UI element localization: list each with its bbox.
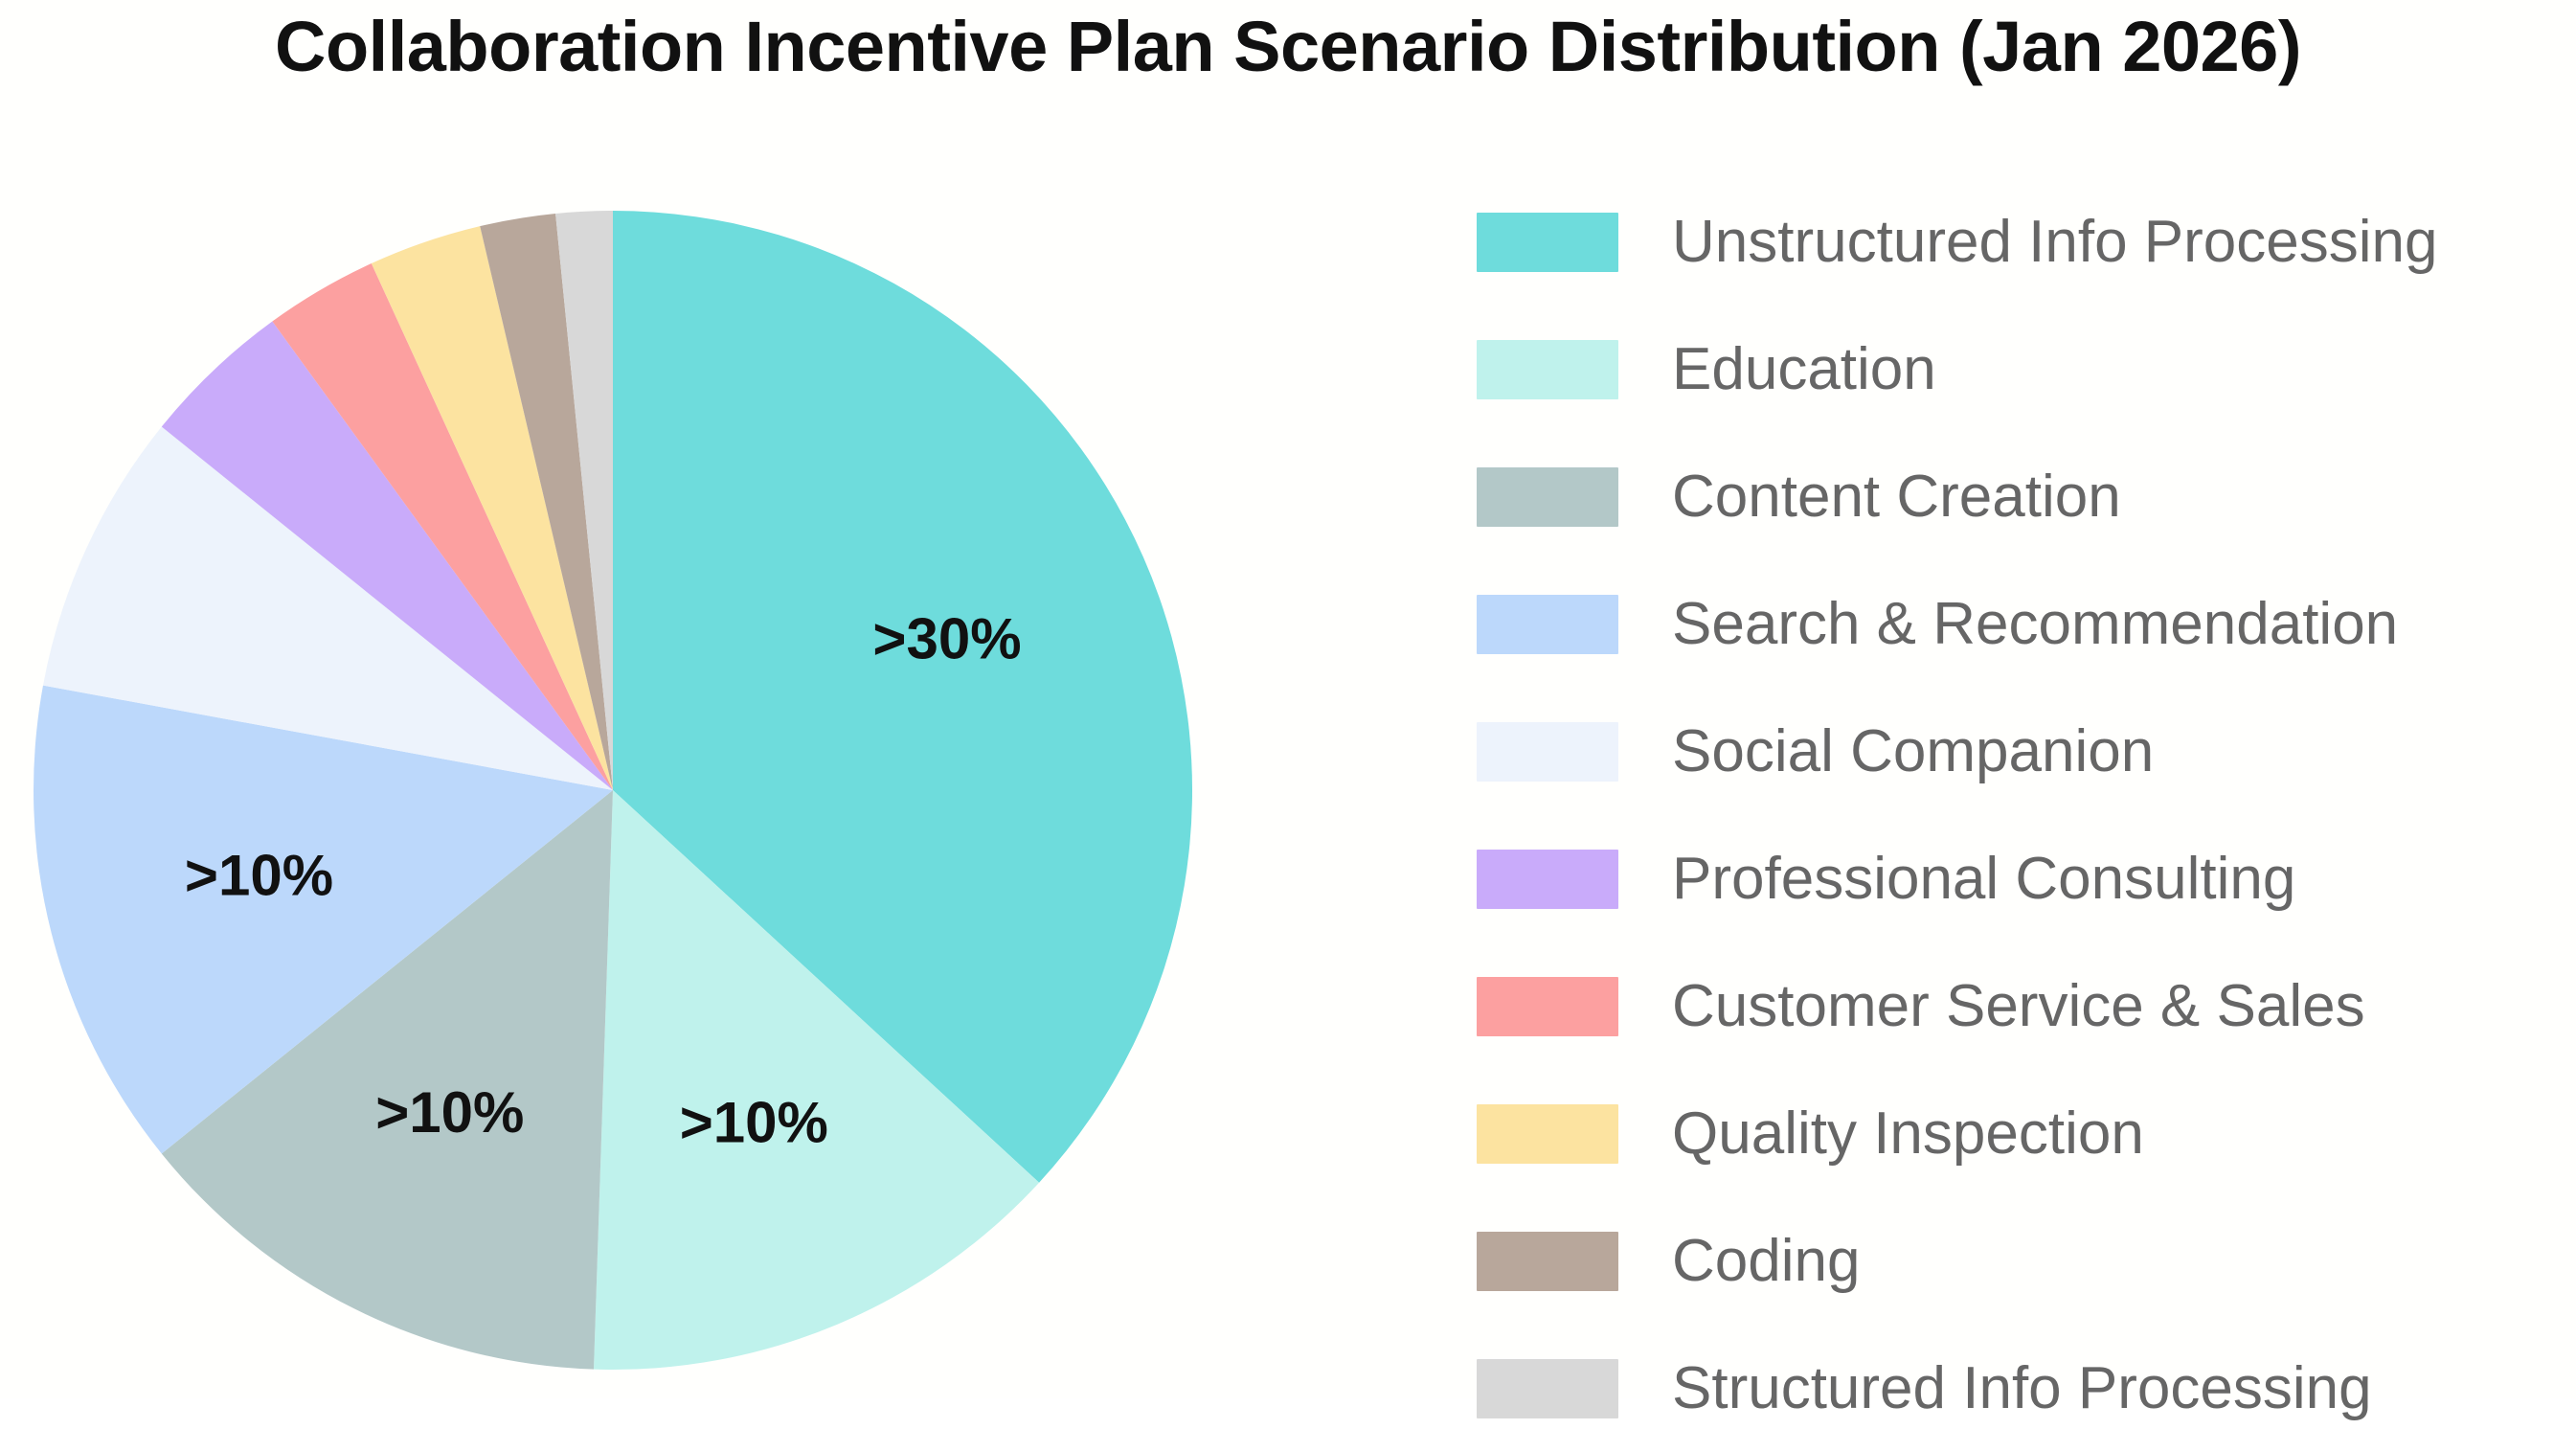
legend-color-swatch [1477, 722, 1618, 782]
legend-item-label: Coding [1672, 1232, 1860, 1291]
pie-slice-label: >30% [872, 607, 1021, 671]
legend-item-label: Quality Inspection [1672, 1104, 2144, 1164]
pie-chart-svg: >30%>10%>10%>10% [0, 105, 1436, 1398]
legend-item[interactable]: Search & Recommendation [1477, 560, 2568, 688]
legend-item[interactable]: Customer Service & Sales [1477, 942, 2568, 1070]
legend-item[interactable]: Structured Info Processing [1477, 1325, 2568, 1452]
page-title: Collaboration Incentive Plan Scenario Di… [0, 6, 2576, 87]
pie-chart-area: >30%>10%>10%>10% [0, 105, 1436, 1398]
legend-color-swatch [1477, 977, 1618, 1036]
legend: Unstructured Info ProcessingEducationCon… [1477, 178, 2568, 1452]
legend-item-label: Content Creation [1672, 467, 2121, 527]
legend-item-label: Professional Consulting [1672, 850, 2295, 909]
legend-item-label: Unstructured Info Processing [1672, 213, 2438, 272]
chart-root: Collaboration Incentive Plan Scenario Di… [0, 0, 2576, 1398]
legend-color-swatch [1477, 213, 1618, 272]
pie-slice-label: >10% [375, 1080, 524, 1145]
legend-item[interactable]: Education [1477, 306, 2568, 433]
legend-item-label: Social Companion [1672, 722, 2154, 782]
legend-item[interactable]: Content Creation [1477, 433, 2568, 560]
legend-color-swatch [1477, 1104, 1618, 1164]
legend-item[interactable]: Quality Inspection [1477, 1070, 2568, 1197]
legend-color-swatch [1477, 595, 1618, 654]
legend-item-label: Education [1672, 340, 1936, 399]
legend-item[interactable]: Professional Consulting [1477, 815, 2568, 942]
legend-item-label: Customer Service & Sales [1672, 977, 2365, 1036]
legend-color-swatch [1477, 467, 1618, 527]
legend-item[interactable]: Unstructured Info Processing [1477, 178, 2568, 306]
pie-slice-label: >10% [185, 843, 333, 907]
legend-color-swatch [1477, 1232, 1618, 1291]
legend-color-swatch [1477, 1359, 1618, 1418]
pie-slice-label: >10% [680, 1090, 828, 1154]
legend-color-swatch [1477, 850, 1618, 909]
legend-item-label: Structured Info Processing [1672, 1359, 2372, 1418]
legend-color-swatch [1477, 340, 1618, 399]
legend-item[interactable]: Social Companion [1477, 688, 2568, 815]
legend-item[interactable]: Coding [1477, 1197, 2568, 1325]
pie-slices-group [34, 211, 1192, 1370]
legend-item-label: Search & Recommendation [1672, 595, 2398, 654]
